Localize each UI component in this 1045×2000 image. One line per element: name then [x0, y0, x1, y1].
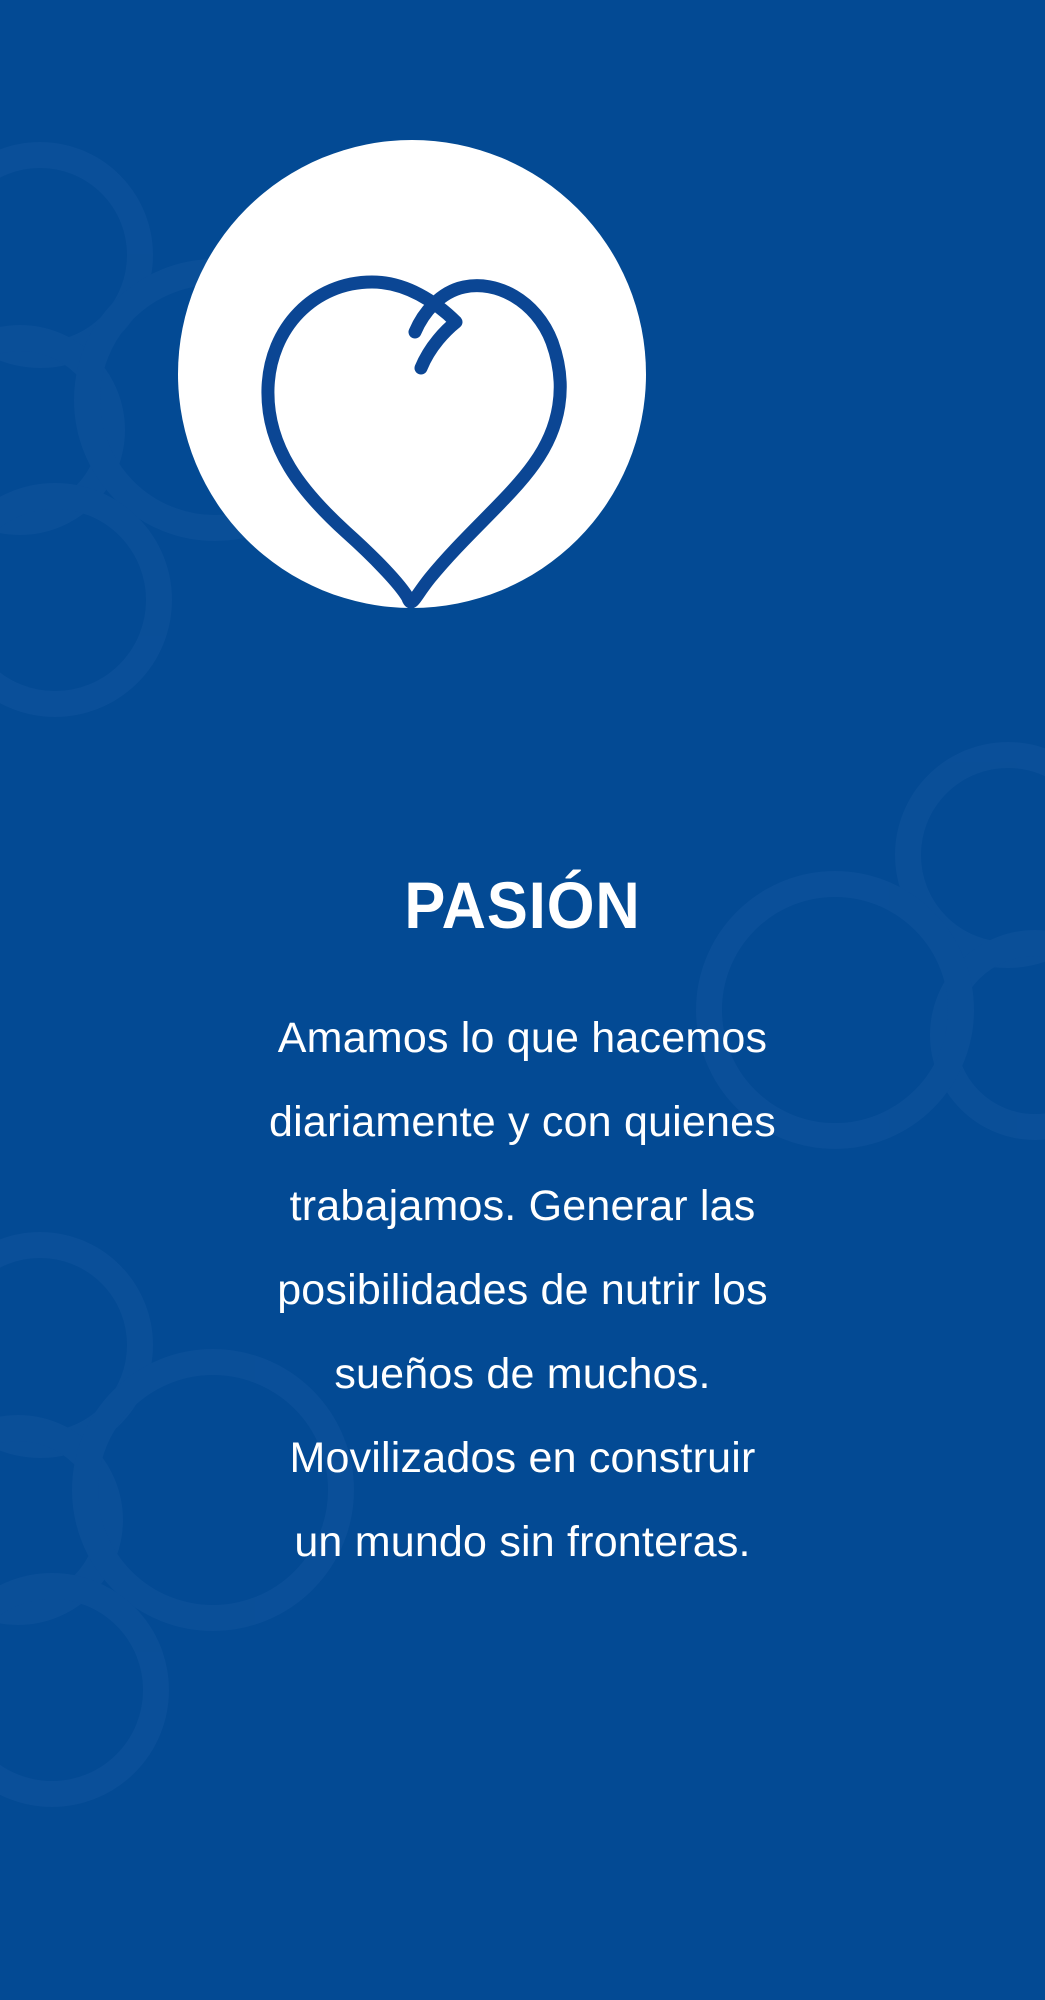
heart-outline-path	[268, 282, 560, 602]
heart-icon	[178, 140, 646, 608]
decor-ring	[0, 338, 112, 522]
decor-ring	[0, 155, 140, 355]
decor-ring	[0, 1586, 156, 1794]
body-line: un mundo sin fronteras.	[0, 1500, 1045, 1584]
body-line: Amamos lo que hacemos	[0, 996, 1045, 1080]
body-line: diariamente y con quienes	[0, 1080, 1045, 1164]
body-line: sueños de muchos.	[0, 1332, 1045, 1416]
value-card: PASIÓN Amamos lo que hacemos diariamente…	[0, 0, 1045, 2000]
icon-badge	[178, 140, 646, 608]
page-title: PASIÓN	[37, 866, 1009, 944]
value-description: Amamos lo que hacemos diariamente y con …	[0, 996, 1045, 1584]
body-line: trabajamos. Generar las	[0, 1164, 1045, 1248]
body-line: Movilizados en construir	[0, 1416, 1045, 1500]
decor-ring	[0, 496, 159, 704]
body-line: posibilidades de nutrir los	[0, 1248, 1045, 1332]
